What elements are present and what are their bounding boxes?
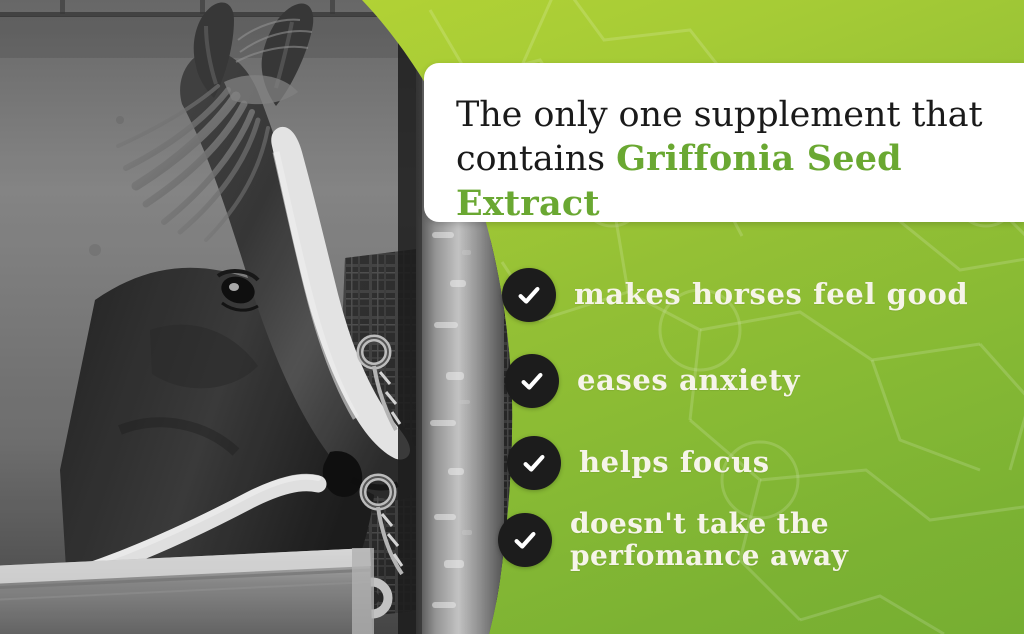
headline-line-1: The only one supplement that <box>456 95 982 135</box>
check-icon <box>498 513 552 567</box>
check-icon <box>505 354 559 408</box>
benefit-label: eases anxiety <box>577 364 800 397</box>
list-item: eases anxiety <box>505 354 800 408</box>
list-item: doesn't take the perfomance away <box>498 508 848 572</box>
benefit-label: doesn't take the perfomance away <box>570 508 848 572</box>
benefit-label: makes horses feel good <box>574 278 968 311</box>
headline-card: The only one supplement thatcontains Gri… <box>424 63 1024 222</box>
headline-text: The only one supplement thatcontains Gri… <box>456 93 996 226</box>
promo-banner: The only one supplement thatcontains Gri… <box>0 0 1024 634</box>
benefit-label: helps focus <box>579 446 770 479</box>
list-item: makes horses feel good <box>502 268 968 322</box>
check-icon <box>502 268 556 322</box>
list-item: helps focus <box>507 436 770 490</box>
check-icon <box>507 436 561 490</box>
headline-line-2-prefix: contains <box>456 139 616 179</box>
